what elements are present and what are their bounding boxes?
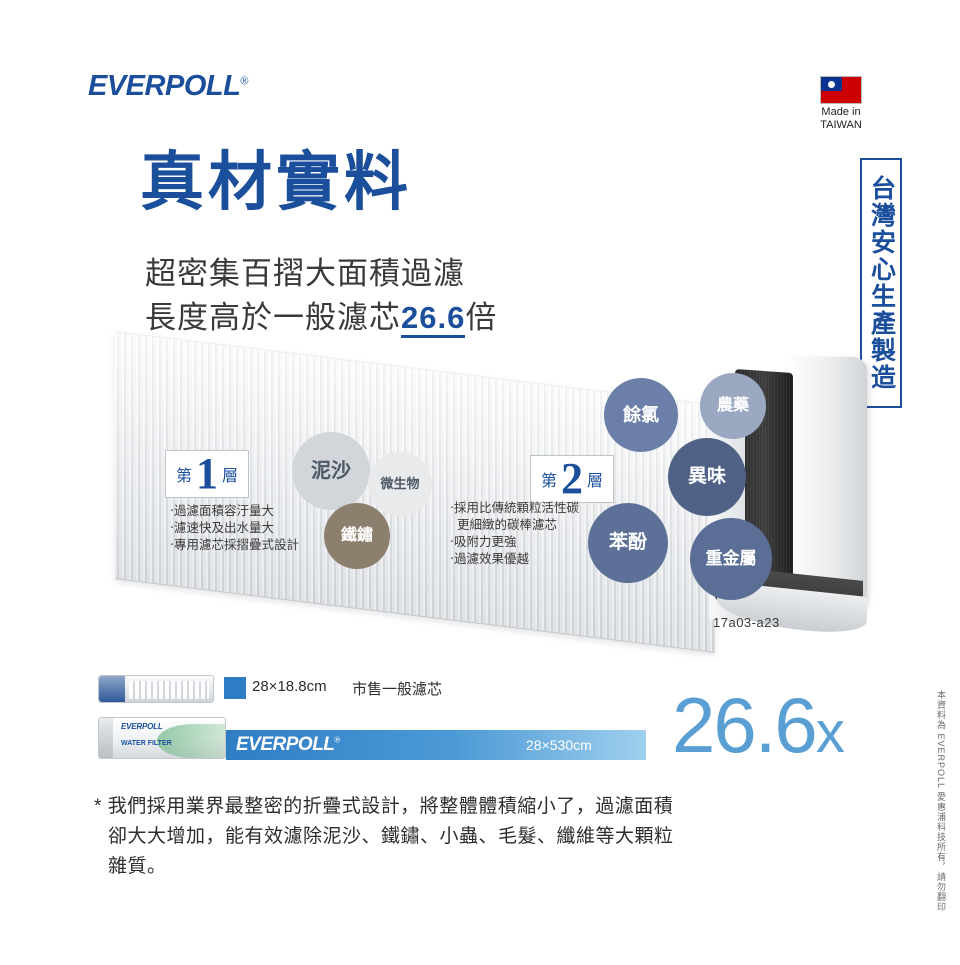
layer-1-prefix: 第 bbox=[176, 462, 192, 486]
contaminant-bubble-phenol: 苯酚 bbox=[588, 503, 668, 583]
subtitle-line-2: 長度高於一般濾芯26.6倍 bbox=[145, 292, 497, 337]
footnote-line-3: 雜質。 bbox=[108, 856, 167, 877]
layer-1-suffix: 層 bbox=[222, 462, 238, 486]
contaminant-bubble-pesticide: 農藥 bbox=[700, 373, 766, 439]
page-title: 真材實料 bbox=[140, 150, 412, 214]
subtitle-line-2-post: 倍 bbox=[465, 300, 497, 335]
subtitle-multiplier: 26.6 bbox=[401, 300, 465, 338]
generic-dimension-label: 28×18.8cm bbox=[252, 678, 327, 695]
layer-1-label: 第 1 層 bbox=[165, 450, 249, 498]
layer-2-bullets: ‧採用比傳統顆粒活性碳 更細緻的碳棒濾芯 ‧吸附力更強 ‧過濾效果優越 bbox=[450, 500, 579, 568]
multiplier-x: x bbox=[816, 700, 843, 765]
contaminant-bubble-heavy-metal: 重金屬 bbox=[690, 518, 772, 600]
flag-sun bbox=[828, 81, 835, 88]
copyright-vertical-note: 本資料為 EVERPOLL 愛惠浦科技所有，請勿翻印 bbox=[935, 690, 948, 912]
footnote: * 我們採用業界最整密的折疊式設計，將整體體積縮小了，過濾面積 卻大大增加，能有… bbox=[108, 792, 868, 882]
contaminant-bubble-chlorine: 餘氯 bbox=[604, 378, 678, 452]
subtitle-line-1: 超密集百摺大面積過濾 bbox=[145, 248, 465, 293]
product-code: 17a03-a23 bbox=[713, 615, 780, 630]
everpoll-cartridge-image: EVERPOLL WATER FILTER bbox=[98, 717, 226, 759]
generic-cartridge-image bbox=[98, 675, 214, 703]
generic-cartridge-pleats bbox=[129, 681, 209, 699]
registered-mark: ® bbox=[240, 75, 248, 87]
multiplier-value: 26.6x bbox=[672, 680, 843, 771]
contaminant-bubble-microbes: 微生物 bbox=[368, 452, 432, 516]
generic-product-label: 市售一般濾芯 bbox=[352, 678, 442, 699]
footnote-line-2: 卻大大增加，能有效濾除泥沙、鐵鏽、小蟲、毛髮、纖維等大顆粒 bbox=[108, 826, 674, 847]
contaminant-bubble-sediment: 泥沙 bbox=[292, 432, 370, 510]
contaminant-bubble-rust: 鐵鏽 bbox=[324, 503, 390, 569]
made-in-line2: TAIWAN bbox=[795, 119, 887, 132]
everpoll-cartridge-brand: EVERPOLL bbox=[121, 722, 163, 731]
layer-2-suffix: 層 bbox=[587, 467, 603, 491]
brand-logo: EVERPOLL® bbox=[88, 70, 248, 103]
layer-2-number: 2 bbox=[561, 458, 583, 500]
everpoll-cartridge-subbrand: WATER FILTER bbox=[121, 740, 172, 747]
layer-2-prefix: 第 bbox=[541, 467, 557, 491]
generic-cartridge-cap bbox=[99, 676, 125, 702]
subtitle-line-2-pre: 長度高於一般濾芯 bbox=[145, 300, 401, 335]
layer-1-bullets: ‧過濾面積容汙量大 ‧濾速快及出水量大 ‧專用濾芯採摺疊式設計 bbox=[170, 503, 299, 554]
generic-length-bar bbox=[224, 677, 246, 699]
footnote-line-1: 我們採用業界最整密的折疊式設計，將整體體積縮小了，過濾面積 bbox=[108, 796, 674, 817]
brand-logo-text: EVERPOLL bbox=[88, 70, 240, 102]
layer-2-label: 第 2 層 bbox=[530, 455, 614, 503]
layer-1-number: 1 bbox=[196, 453, 218, 495]
everpoll-dimension-label: 28×530cm bbox=[526, 737, 592, 753]
made-in-line1: Made in bbox=[795, 106, 887, 119]
made-in-taiwan: Made in TAIWAN bbox=[795, 76, 887, 132]
multiplier-number: 26.6 bbox=[672, 681, 816, 769]
everpoll-bar-logo-text: EVERPOLL bbox=[236, 734, 334, 755]
taiwan-flag-icon bbox=[820, 76, 862, 104]
product-info-page: EVERPOLL® Made in TAIWAN 台灣安心生產製造 本資料為 E… bbox=[0, 0, 960, 965]
footnote-star: * bbox=[94, 796, 102, 817]
everpoll-bar-logo: EVERPOLL® bbox=[236, 734, 340, 756]
contaminant-bubble-odor: 異味 bbox=[668, 438, 746, 516]
everpoll-length-bar: EVERPOLL® 28×530cm bbox=[226, 730, 646, 760]
everpoll-cartridge-cap bbox=[99, 718, 113, 758]
everpoll-bar-logo-reg: ® bbox=[334, 736, 339, 745]
